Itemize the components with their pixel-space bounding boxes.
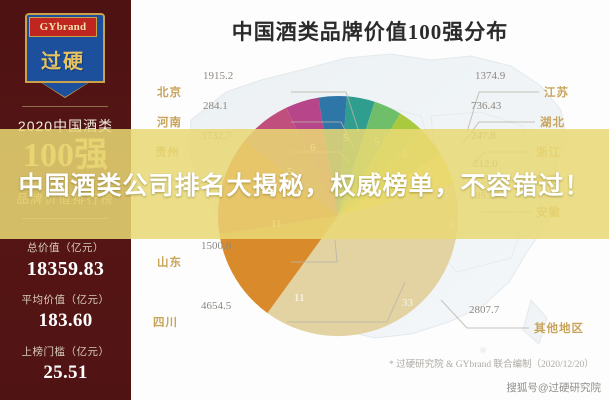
stat-total-value: 总价值（亿元） 18359.83 [0,240,131,281]
stat-threshold-value: 上榜门槛（亿元） 25.51 [0,344,131,384]
sidebar-divider-top [22,106,108,107]
logo-brand-text: GYbrand [40,21,87,33]
stat-average-value: 平均价值（亿元） 183.60 [0,292,131,332]
stat-average-value-number: 183.60 [0,310,131,332]
stat-average-value-label: 平均价值（亿元） [0,292,131,307]
overlay-headline: 中国酒类公司排名大揭秘，权威榜单，不容错过！ [0,170,609,203]
label-province-beijing: 北京 [157,84,182,100]
label-province-hubei: 湖北 [540,114,565,130]
value-province-henan: 284.1 [203,100,228,112]
value-province-shandong: 1500.8 [201,240,231,252]
value-province-sichuan: 4654.5 [201,300,231,312]
logo-cn-text: 过硬 [41,45,85,74]
stat-threshold-label: 上榜门槛（亿元） [0,344,131,359]
label-province-henan: 河南 [157,114,182,130]
stat-total-value-number: 18359.83 [0,258,131,281]
stat-threshold-number: 25.51 [0,362,131,384]
value-province-jiangsu: 1374.9 [475,70,505,82]
label-province-jiangsu: 江苏 [544,84,569,100]
stat-total-value-label: 总价值（亿元） [0,240,131,255]
slice-count-other: 33 [402,297,413,309]
slice-count-sichuan: 11 [294,292,305,304]
value-region-other: 2807.7 [469,304,499,316]
label-region-other: 其他地区 [534,320,584,336]
value-province-hubei: 736.43 [471,100,501,112]
logo-cn-band: 过硬 [29,39,97,79]
logo-brand-band: GYbrand [29,17,97,37]
value-province-beijing: 1915.2 [203,70,233,82]
shield-point [39,81,91,97]
label-province-shandong: 山东 [157,254,182,270]
watermark-label: 搜狐号@过硬研究院 [506,380,601,395]
chart-credit: * 过硬研究院 & GYbrand 联合编制（2020/12/20） [389,356,594,370]
shield-logo-icon: GYbrand 过硬 [25,13,105,97]
label-province-sichuan: 四川 [153,314,178,330]
infographic-root: GYbrand 过硬 2020中国酒类 100强 品牌价值排行榜 总价值（亿元）… [0,0,609,400]
